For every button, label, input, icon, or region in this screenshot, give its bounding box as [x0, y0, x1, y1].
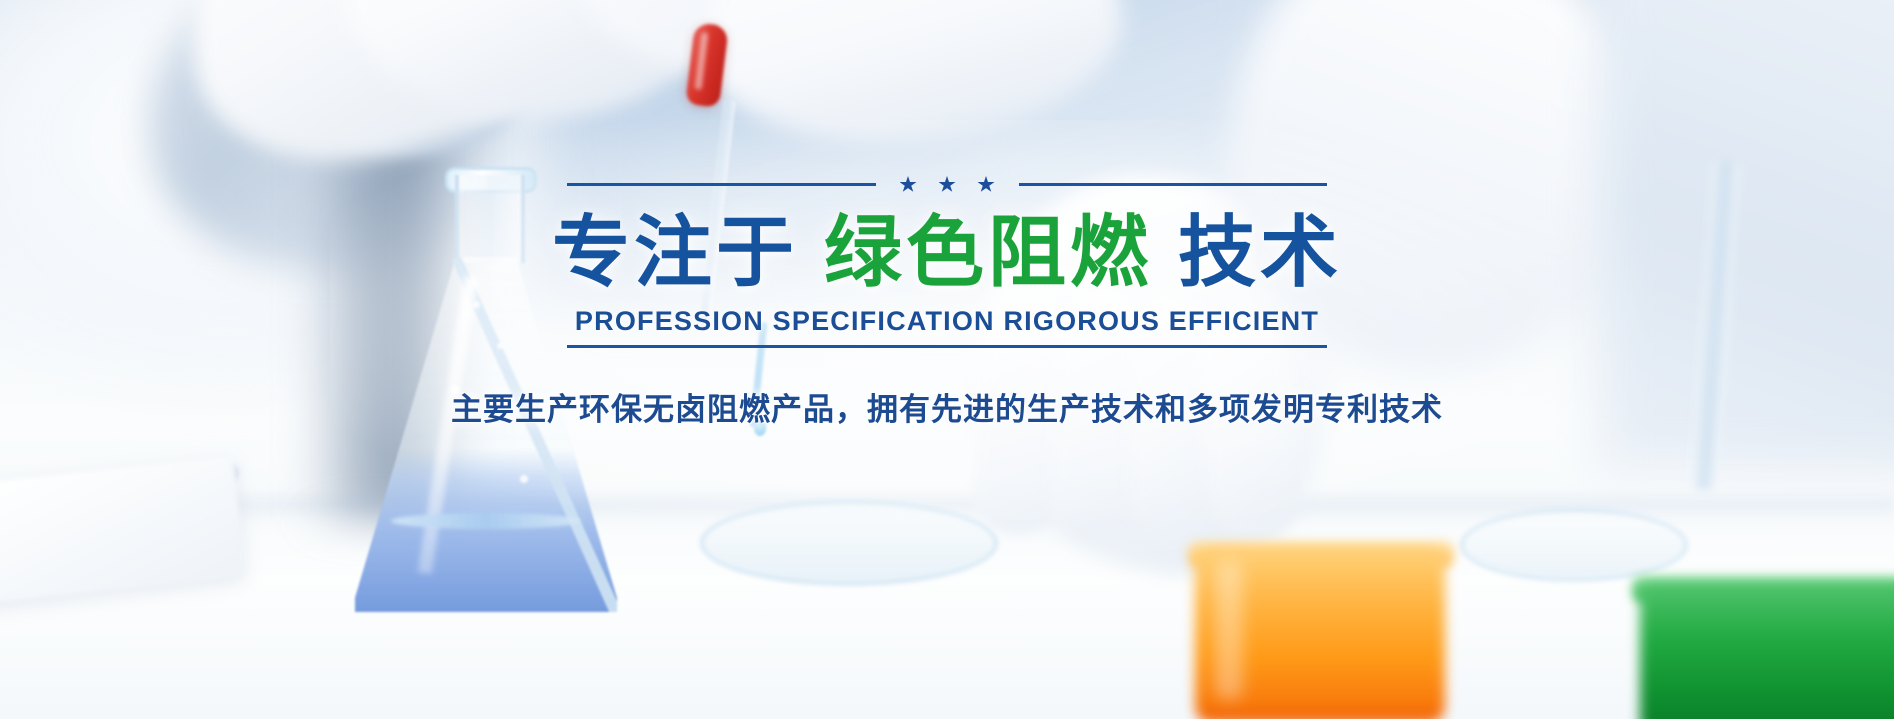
divider-rule-left	[567, 183, 876, 186]
subtitle-block: PROFESSION SPECIFICATION RIGOROUS EFFICI…	[567, 306, 1327, 348]
star-divider	[567, 176, 1327, 193]
star-icon	[978, 176, 995, 193]
headline-part-2: 绿色阻燃	[824, 208, 1152, 296]
hero-banner: 专注于绿色阻燃技术 PROFESSION SPECIFICATION RIGOR…	[0, 0, 1894, 719]
page-title: 专注于绿色阻燃技术	[552, 211, 1342, 294]
headline-part-3: 技术	[1178, 208, 1342, 296]
divider-stars	[890, 176, 1005, 193]
banner-description: 主要生产环保无卤阻燃产品，拥有先进的生产技术和多项发明专利技术	[451, 384, 1443, 429]
subtitle-underline	[567, 345, 1327, 348]
star-icon	[900, 176, 917, 193]
divider-rule-right	[1019, 183, 1328, 186]
star-icon	[939, 176, 956, 193]
headline-part-1: 专注于	[552, 208, 798, 296]
banner-content: 专注于绿色阻燃技术 PROFESSION SPECIFICATION RIGOR…	[0, 0, 1894, 719]
banner-subtitle: PROFESSION SPECIFICATION RIGOROUS EFFICI…	[575, 306, 1319, 337]
